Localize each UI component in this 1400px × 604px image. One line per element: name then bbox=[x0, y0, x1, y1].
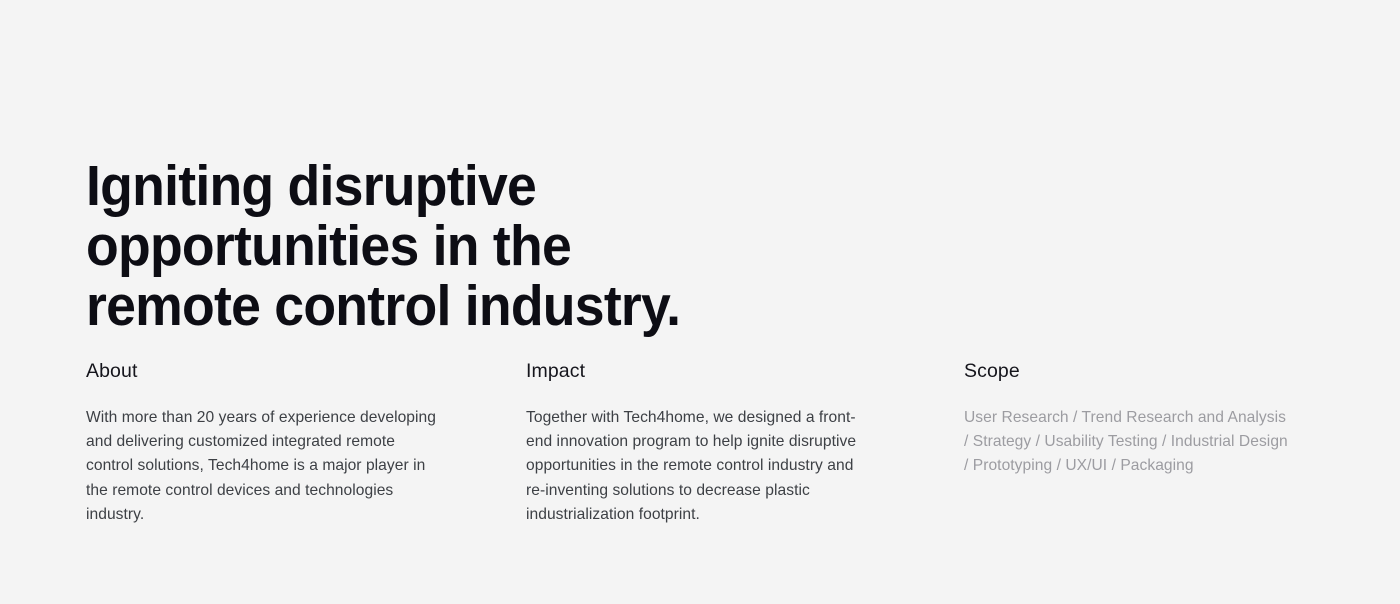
column-about-heading: About bbox=[86, 358, 436, 384]
column-about-body: With more than 20 years of experience de… bbox=[86, 406, 436, 527]
column-scope: Scope User Research / Trend Research and… bbox=[964, 358, 1294, 479]
case-study-page: Igniting disruptive opportunities in the… bbox=[0, 0, 1400, 604]
column-impact: Impact Together with Tech4home, we desig… bbox=[526, 358, 876, 527]
column-impact-body: Together with Tech4home, we designed a f… bbox=[526, 406, 876, 527]
page-headline: Igniting disruptive opportunities in the… bbox=[86, 156, 857, 336]
column-about: About With more than 20 years of experie… bbox=[86, 358, 436, 527]
column-scope-heading: Scope bbox=[964, 358, 1294, 384]
column-impact-heading: Impact bbox=[526, 358, 876, 384]
column-scope-body: User Research / Trend Research and Analy… bbox=[964, 406, 1294, 479]
